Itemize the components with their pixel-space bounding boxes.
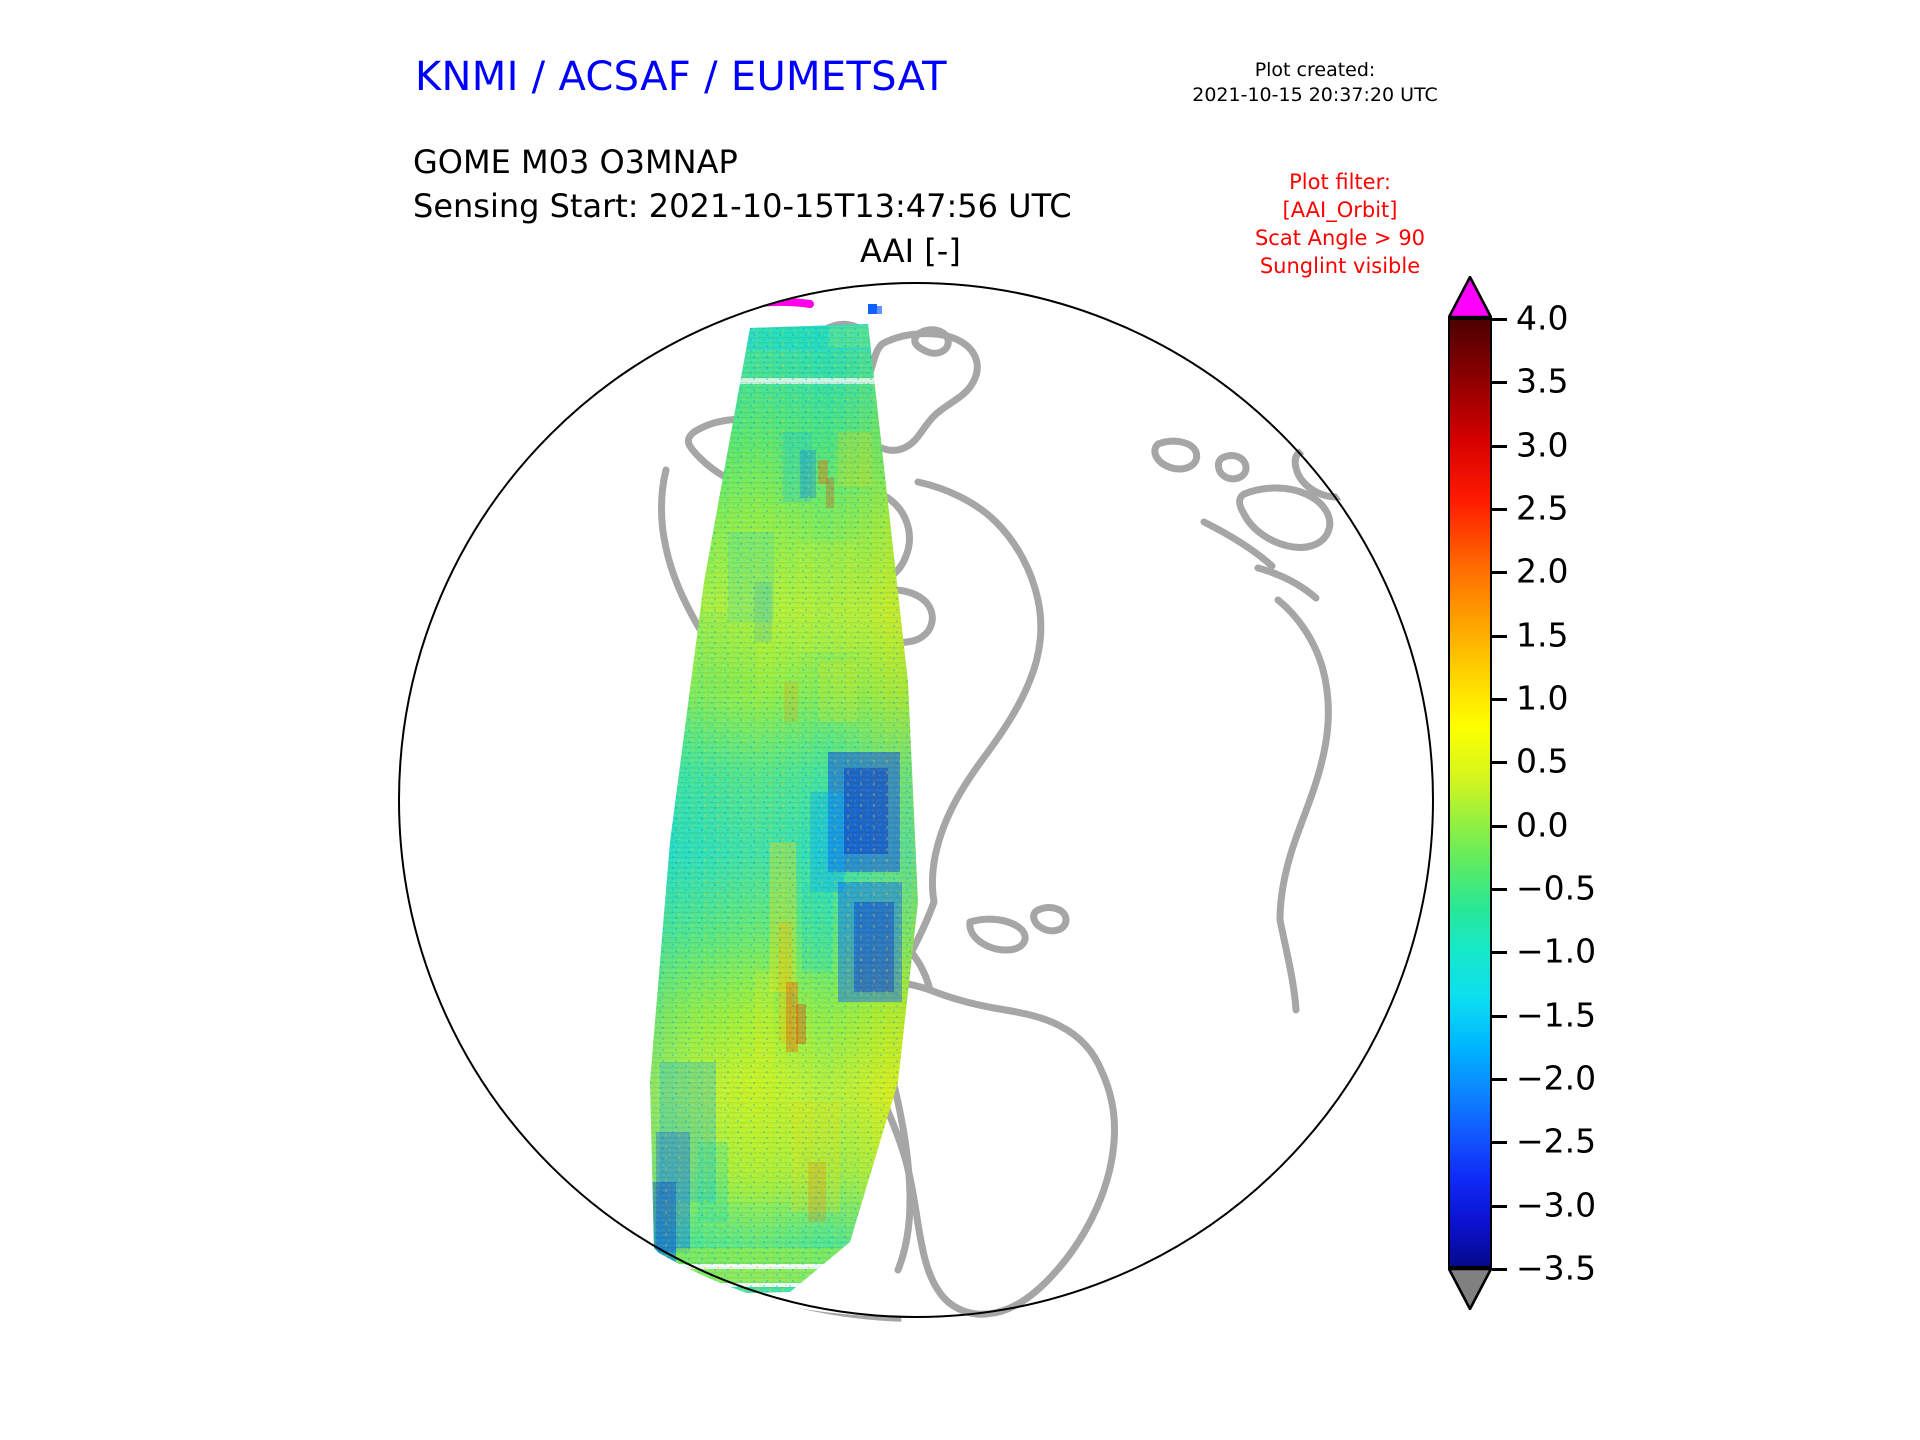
globe-map xyxy=(398,282,1438,1322)
organisation-title: KNMI / ACSAF / EUMETSAT xyxy=(415,54,947,100)
colorbar-tick-label: 0.0 xyxy=(1516,808,1568,841)
colorbar-under-arrow xyxy=(1448,1268,1492,1310)
colorbar-tick xyxy=(1492,698,1507,701)
colorbar-tick xyxy=(1492,761,1507,764)
colorbar-tick xyxy=(1492,635,1507,638)
colorbar-tick xyxy=(1492,571,1507,574)
plot-created-value: 2021-10-15 20:37:20 UTC xyxy=(1170,83,1460,108)
colorbar-tick xyxy=(1492,951,1507,954)
colorbar-tick xyxy=(1492,445,1507,448)
colorbar-tick xyxy=(1492,381,1507,384)
colorbar-tick xyxy=(1492,888,1507,891)
plot-filter-glint: Sunglint visible xyxy=(1215,252,1465,280)
globe-outline xyxy=(398,282,1434,1318)
colorbar-tick-label: −2.0 xyxy=(1516,1062,1596,1095)
plot-filter-label: Plot filter: xyxy=(1215,168,1465,196)
colorbar-tick-label: 1.0 xyxy=(1516,682,1568,715)
variable-title: AAI [-] xyxy=(860,232,961,270)
plot-created-label: Plot created: xyxy=(1170,58,1460,83)
colorbar-tick-label: 0.5 xyxy=(1516,745,1568,778)
colorbar-tick-label: 2.0 xyxy=(1516,555,1568,588)
colorbar-tick xyxy=(1492,1268,1507,1271)
colorbar-tick xyxy=(1492,1141,1507,1144)
colorbar-tick xyxy=(1492,825,1507,828)
colorbar-tick-label: −2.5 xyxy=(1516,1125,1596,1158)
colorbar-gradient xyxy=(1448,318,1492,1268)
colorbar-tick xyxy=(1492,508,1507,511)
colorbar-tick-label: −3.0 xyxy=(1516,1188,1596,1221)
colorbar-tick-label: −1.0 xyxy=(1516,935,1596,968)
plot-filter-name: [AAI_Orbit] xyxy=(1215,196,1465,224)
colorbar-tick-label: 2.5 xyxy=(1516,492,1568,525)
plot-filter-block: Plot filter: [AAI_Orbit] Scat Angle > 90… xyxy=(1215,168,1465,280)
colorbar-tick-label: −1.5 xyxy=(1516,998,1596,1031)
colorbar-tick-label: 4.0 xyxy=(1516,302,1568,335)
colorbar-tick xyxy=(1492,1015,1507,1018)
colorbar-tick-label: 1.5 xyxy=(1516,618,1568,651)
colorbar: 4.03.53.02.52.01.51.00.50.0−0.5−1.0−1.5−… xyxy=(1448,318,1492,1268)
colorbar-tick-label: 3.0 xyxy=(1516,428,1568,461)
page-title: GOME M03 O3MNAP Sensing Start: 2021-10-1… xyxy=(413,140,1072,228)
plot-created-block: Plot created: 2021-10-15 20:37:20 UTC xyxy=(1170,58,1460,108)
colorbar-tick xyxy=(1492,318,1507,321)
plot-filter-scat: Scat Angle > 90 xyxy=(1215,224,1465,252)
colorbar-tick-label: −3.5 xyxy=(1516,1252,1596,1285)
colorbar-over-arrow xyxy=(1448,276,1492,318)
colorbar-tick xyxy=(1492,1205,1507,1208)
colorbar-tick-label: 3.5 xyxy=(1516,365,1568,398)
colorbar-tick-label: −0.5 xyxy=(1516,872,1596,905)
sensing-start: Sensing Start: 2021-10-15T13:47:56 UTC xyxy=(413,184,1072,228)
product-title: GOME M03 O3MNAP xyxy=(413,140,1072,184)
colorbar-tick xyxy=(1492,1078,1507,1081)
